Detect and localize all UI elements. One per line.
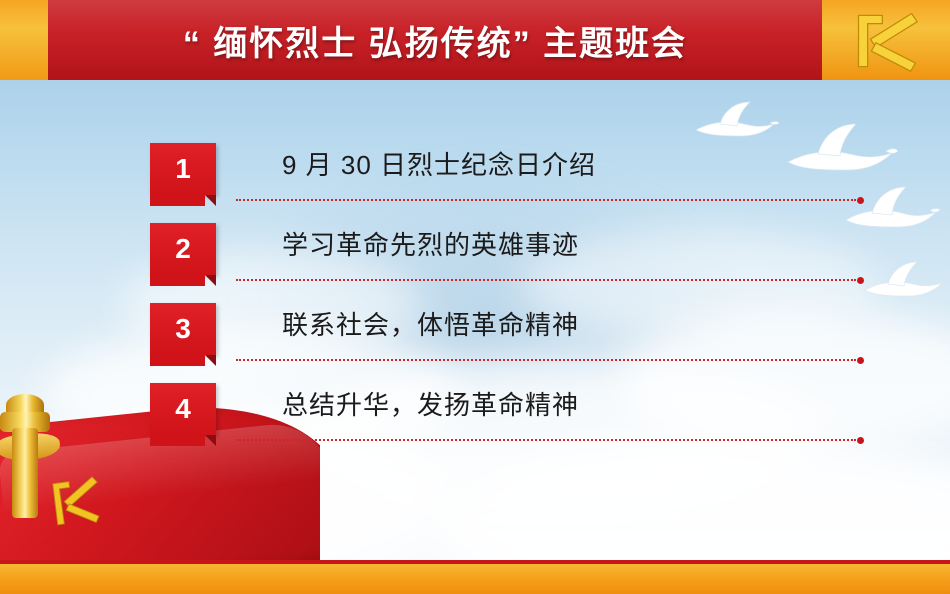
footer-bar: [0, 564, 950, 594]
agenda-divider: [236, 199, 856, 203]
agenda-number-badge: 1: [150, 143, 216, 195]
agenda-divider: [236, 279, 856, 283]
dove-icon: [690, 96, 780, 148]
list-item[interactable]: 2 学习革命先烈的英雄事迹: [150, 223, 810, 303]
header-gold-left: [0, 0, 48, 80]
dove-icon: [840, 182, 940, 238]
party-emblem-icon: [840, 8, 932, 74]
slide-canvas: “ 缅怀烈士 弘扬传统” 主题班会 1 9 月 30 日烈士纪念日介绍 2 学习…: [0, 0, 950, 594]
agenda-item-label: 联系社会，体悟革命精神: [282, 305, 579, 342]
agenda-item-label: 学习革命先烈的英雄事迹: [282, 225, 579, 262]
pillar-column: [12, 428, 38, 518]
agenda-item-label: 总结升华，发扬革命精神: [282, 385, 579, 422]
agenda-divider: [236, 359, 856, 363]
dove-icon: [860, 258, 946, 306]
list-item[interactable]: 1 9 月 30 日烈士纪念日介绍: [150, 143, 810, 223]
agenda-list: 1 9 月 30 日烈士纪念日介绍 2 学习革命先烈的英雄事迹 3 联系社会，体…: [150, 143, 810, 463]
slide-title: “ 缅怀烈士 弘扬传统” 主题班会: [48, 0, 822, 80]
list-item[interactable]: 4 总结升华，发扬革命精神: [150, 383, 810, 463]
agenda-number-badge: 2: [150, 223, 216, 275]
agenda-divider: [236, 439, 856, 443]
agenda-number-badge: 3: [150, 303, 216, 355]
gold-pillar-decoration: [0, 394, 56, 514]
list-item[interactable]: 3 联系社会，体悟革命精神: [150, 303, 810, 383]
agenda-number-badge: 4: [150, 383, 216, 435]
agenda-item-label: 9 月 30 日烈士纪念日介绍: [282, 145, 596, 182]
header-bar: “ 缅怀烈士 弘扬传统” 主题班会: [0, 0, 950, 80]
